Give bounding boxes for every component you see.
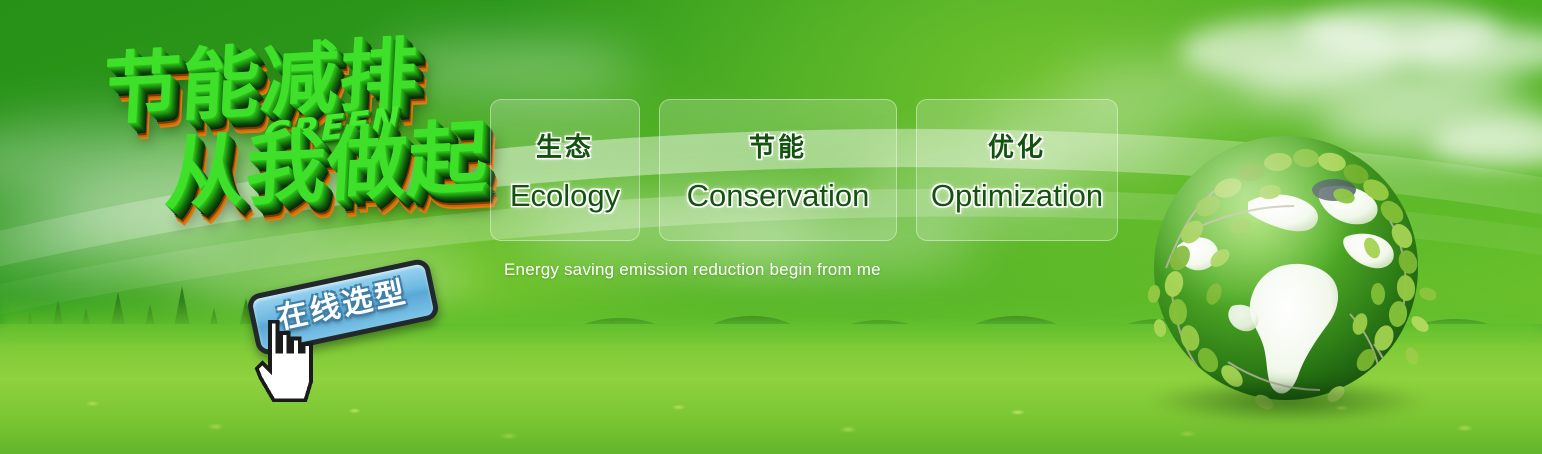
feature-card-ecology-cn: 生态 bbox=[536, 127, 594, 164]
globe-shadow bbox=[1148, 378, 1428, 424]
feature-card-optimization-cn: 优化 bbox=[988, 127, 1046, 164]
feature-card-conservation-cn: 节能 bbox=[749, 127, 807, 164]
leaf-covered-globe-icon bbox=[1136, 118, 1436, 418]
title-line-2: 从我做起 bbox=[163, 118, 491, 215]
feature-card-ecology-en: Ecology bbox=[510, 178, 620, 214]
feature-card-list: 生态 Ecology 节能 Conservation 优化 Optimizati… bbox=[490, 99, 1118, 241]
feature-card-optimization-en: Optimization bbox=[931, 178, 1103, 214]
feature-card-optimization[interactable]: 优化 Optimization bbox=[916, 99, 1118, 241]
hero-banner: 节能减排 GREEN 从我做起 在线选型 生态 Ecology 节能 Conse… bbox=[0, 0, 1542, 454]
feature-card-conservation[interactable]: 节能 Conservation bbox=[659, 99, 897, 241]
tagline: Energy saving emission reduction begin f… bbox=[504, 260, 881, 280]
feature-card-conservation-en: Conservation bbox=[687, 178, 870, 214]
hand-pointer-icon bbox=[245, 318, 321, 404]
hero-title-3d: 节能减排 GREEN 从我做起 bbox=[90, 26, 501, 277]
globe-graphic bbox=[1136, 118, 1436, 418]
feature-card-ecology[interactable]: 生态 Ecology bbox=[490, 99, 640, 241]
